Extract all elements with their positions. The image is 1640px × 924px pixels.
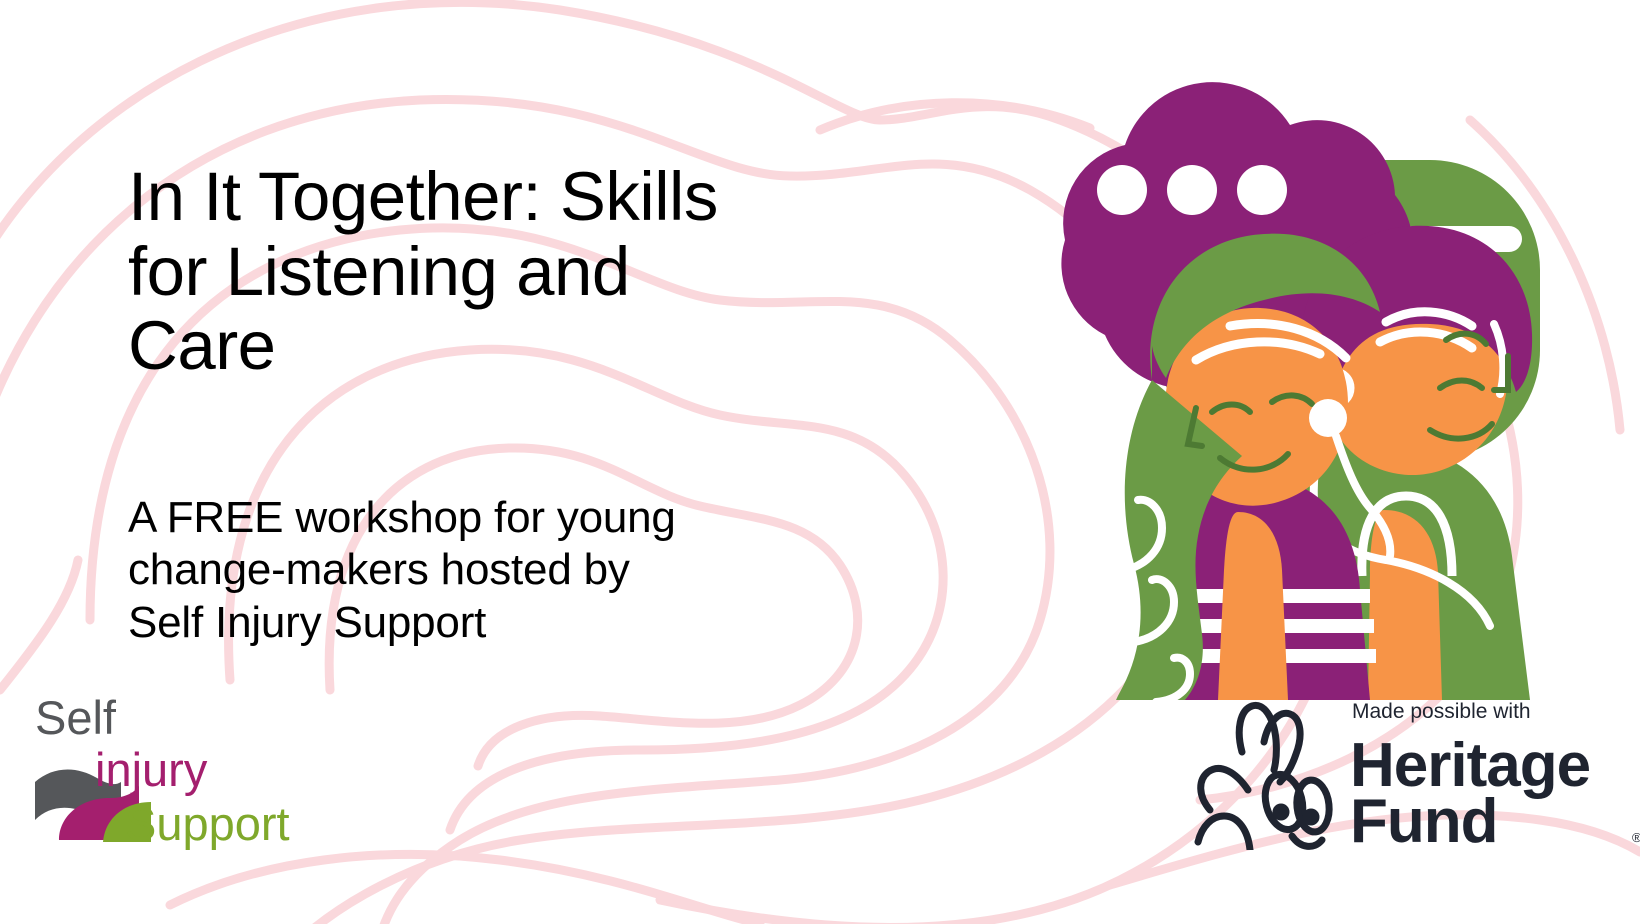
sis-logo-word-support: Support — [125, 797, 290, 850]
heritage-text-line1: Heritage — [0, 0, 1, 1]
heritage-text-line2: Fund — [0, 0, 1, 1]
illustration-two-people-listening — [960, 40, 1560, 700]
self-injury-support-logo: Self injury Support — [25, 690, 325, 850]
page-subtitle: A FREE workshop for young change-makers … — [128, 384, 918, 650]
page-title: In It Together: Skills for Listening and… — [128, 160, 918, 384]
sis-logo-text-self: Self — [0, 0, 1, 1]
poster-canvas: In It Together: Skills for Listening and… — [0, 0, 1640, 924]
registered-trademark-mark: ® — [1632, 830, 1640, 845]
national-lottery-heritage-fund-logo: ® Made possible with Heritage Fund — [1180, 690, 1640, 850]
heritage-wordmark-line2: Fund — [1350, 787, 1498, 850]
sis-logo-text-support: Support — [0, 0, 1, 1]
headline-block: In It Together: Skills for Listening and… — [128, 160, 918, 650]
sis-logo-text-injury: injury — [0, 0, 1, 1]
heritage-strapline: Made possible with — [1352, 700, 1531, 723]
sis-logo-word-self: Self — [35, 691, 117, 744]
heritage-text-strapline: Made possible with — [0, 0, 1, 1]
crossed-fingers-hand-icon — [1198, 705, 1332, 850]
sis-logo-word-injury: injury — [95, 743, 208, 796]
